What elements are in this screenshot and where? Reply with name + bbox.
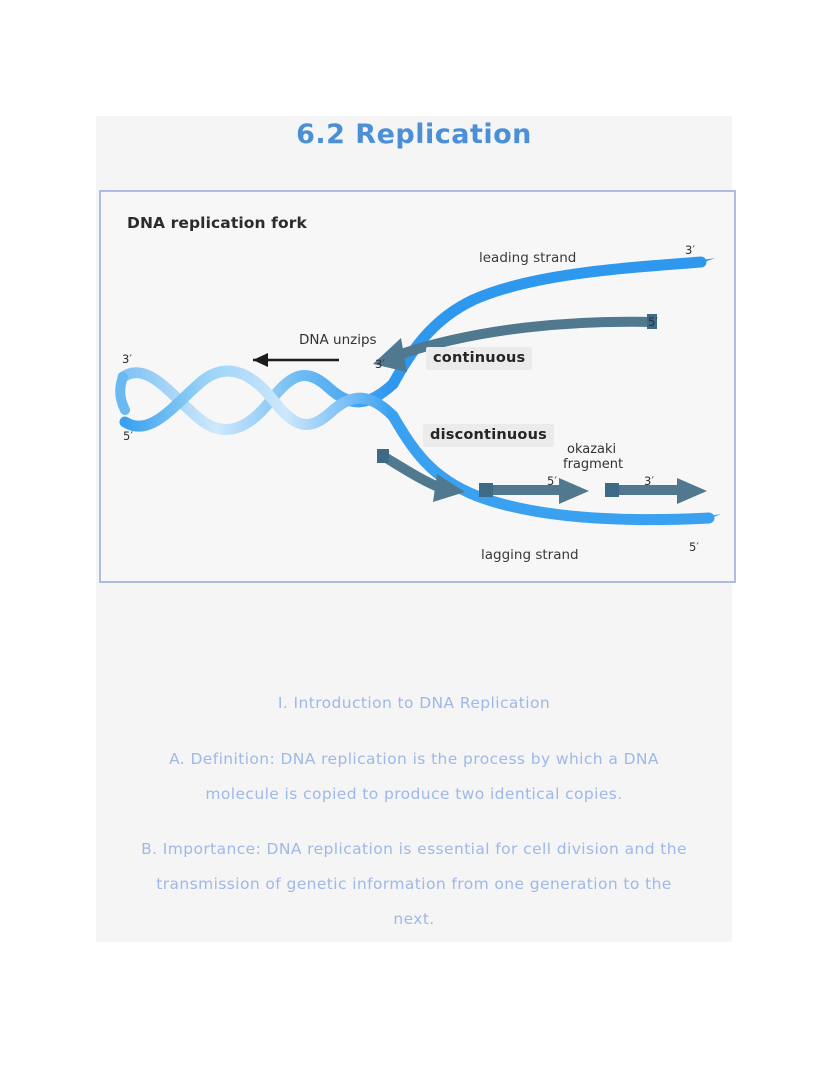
notes-section: I. Introduction to DNA Replication A. De… [96, 686, 732, 957]
label-okazaki-end-3prime: 3′ [644, 474, 654, 488]
notes-paragraph-a-line-1: A. Definition: DNA replication is the pr… [96, 742, 732, 777]
notes-paragraph-a-line-2: molecule is copied to produce two identi… [96, 777, 732, 812]
label-helix-5prime: 5′ [123, 429, 133, 443]
dna-double-helix [120, 371, 393, 429]
label-leading-strand: leading strand [479, 250, 576, 266]
label-continuous-end-3prime: 3′ [375, 357, 385, 371]
label-lagging-strand: lagging strand [481, 547, 579, 563]
notes-paragraph-b: B. Importance: DNA replication is essent… [96, 832, 732, 937]
label-dna-unzips: DNA unzips [299, 332, 377, 348]
label-continuous-start-5prime: 5′ [648, 315, 658, 329]
notes-paragraph-b-line-3: next. [96, 902, 732, 937]
notes-paragraph-b-line-1: B. Importance: DNA replication is essent… [96, 832, 732, 867]
page-title: 6.2 Replication [96, 118, 732, 152]
label-okazaki-fragment-line2: fragment [563, 457, 623, 472]
notes-paragraph-b-line-2: transmission of genetic information from… [96, 867, 732, 902]
okazaki-arrow-3 [605, 478, 707, 504]
label-helix-3prime: 3′ [122, 352, 132, 366]
label-discontinuous: discontinuous [423, 424, 554, 447]
label-okazaki-start-5prime: 5′ [547, 474, 557, 488]
label-continuous: continuous [426, 347, 532, 370]
notes-heading: I. Introduction to DNA Replication [96, 686, 732, 721]
dna-replication-figure: DNA replication fork [99, 190, 736, 583]
label-leading-end-3prime: 3′ [685, 243, 695, 257]
label-okazaki-fragment-line1: okazaki [567, 442, 616, 457]
label-lagging-end-5prime: 5′ [689, 540, 699, 554]
dna-unzips-arrow [253, 353, 339, 367]
page-root: 6.2 Replication DNA replication fork [0, 0, 828, 1071]
figure-graphic [101, 192, 734, 581]
notes-paragraph-a: A. Definition: DNA replication is the pr… [96, 742, 732, 812]
